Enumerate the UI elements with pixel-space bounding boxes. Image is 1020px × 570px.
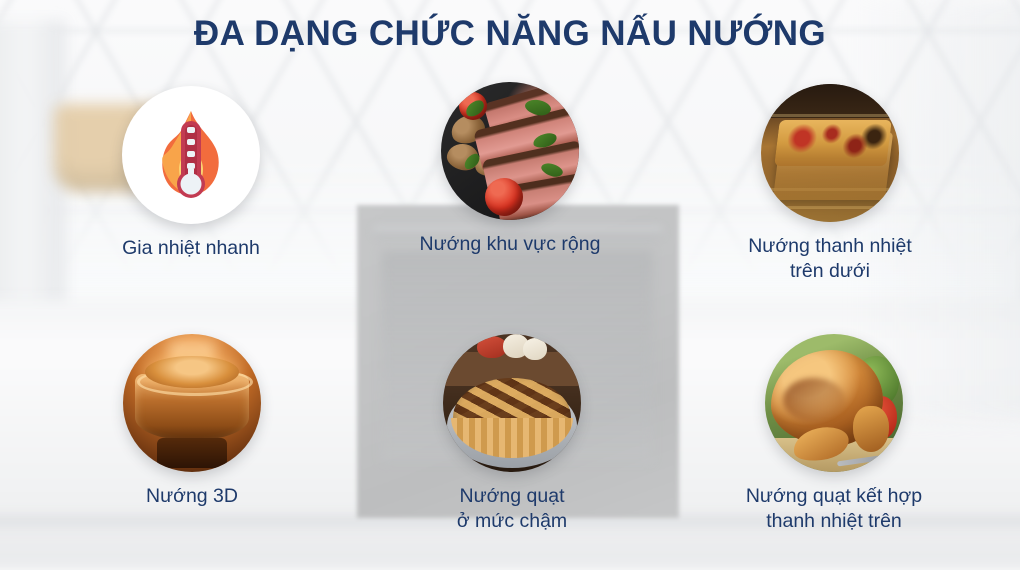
feature-media-disc (441, 82, 579, 220)
copper-pot-photo (123, 334, 261, 472)
feature-gia-nhiet-nhanh: Gia nhiệt nhanh (41, 86, 341, 261)
oven-rack (761, 114, 899, 117)
oven-casserole-photo (761, 84, 899, 222)
feature-media-disc (122, 86, 260, 224)
chicken-sear-mark (783, 378, 845, 422)
oven-top-shadow (761, 84, 899, 118)
tomato-shape (485, 178, 523, 216)
page-title: ĐA DẠNG CHỨC NĂNG NẤU NƯỚNG (0, 14, 1020, 54)
feature-nuong-thanh-nhiet-tren-duoi: Nướng thanh nhiệt trên dưới (680, 84, 980, 284)
feature-nuong-khu-vuc-rong: Nướng khu vực rộng (360, 82, 660, 257)
feature-caption: Gia nhiệt nhanh (41, 236, 341, 261)
feature-caption-line1: Nướng 3D (146, 485, 238, 507)
feature-media-disc (123, 334, 261, 472)
feature-caption-line2: ở mức chậm (362, 509, 662, 534)
browned-crust (145, 356, 239, 388)
feature-caption: Nướng thanh nhiệt trên dưới (680, 234, 980, 284)
infographic-canvas: ĐA DẠNG CHỨC NĂNG NẤU NƯỚNG (0, 0, 1020, 570)
feature-caption: Nướng quạt ở mức chậm (362, 484, 662, 534)
feature-nuong-quat-o-muc-cham: Nướng quạt ở mức chậm (362, 334, 662, 534)
feature-caption: Nướng 3D (42, 484, 342, 509)
feature-media-disc (443, 334, 581, 472)
pot-base (157, 438, 227, 468)
flame-thermometer-icon (122, 86, 260, 224)
roast-chicken-photo (765, 334, 903, 472)
feature-caption-line1: Nướng thanh nhiệt (748, 235, 912, 257)
feature-caption-line1: Nướng quạt kết hợp (746, 485, 922, 507)
grilled-steak-photo (441, 82, 579, 220)
feature-nuong-quat-ket-hop-thanh-nhiet-tren: Nướng quạt kết hợp thanh nhiệt trên (684, 334, 984, 534)
feature-nuong-3d: Nướng 3D (42, 334, 342, 509)
feature-caption-line1: Nướng quạt (460, 485, 565, 507)
feature-caption-line2: thanh nhiệt trên (684, 509, 984, 534)
feature-media-disc (765, 334, 903, 472)
feature-caption-line2: trên dưới (680, 259, 980, 284)
oven-glow (761, 158, 899, 222)
feature-caption: Nướng quạt kết hợp thanh nhiệt trên (684, 484, 984, 534)
lattice-apple-pie-photo (443, 334, 581, 472)
apple-slice (523, 338, 547, 360)
feature-caption: Nướng khu vực rộng (360, 232, 660, 257)
feature-caption-line1: Nướng khu vực rộng (420, 233, 601, 255)
chicken-leg (853, 406, 889, 452)
feature-caption-line1: Gia nhiệt nhanh (122, 237, 260, 259)
feature-media-disc (761, 84, 899, 222)
